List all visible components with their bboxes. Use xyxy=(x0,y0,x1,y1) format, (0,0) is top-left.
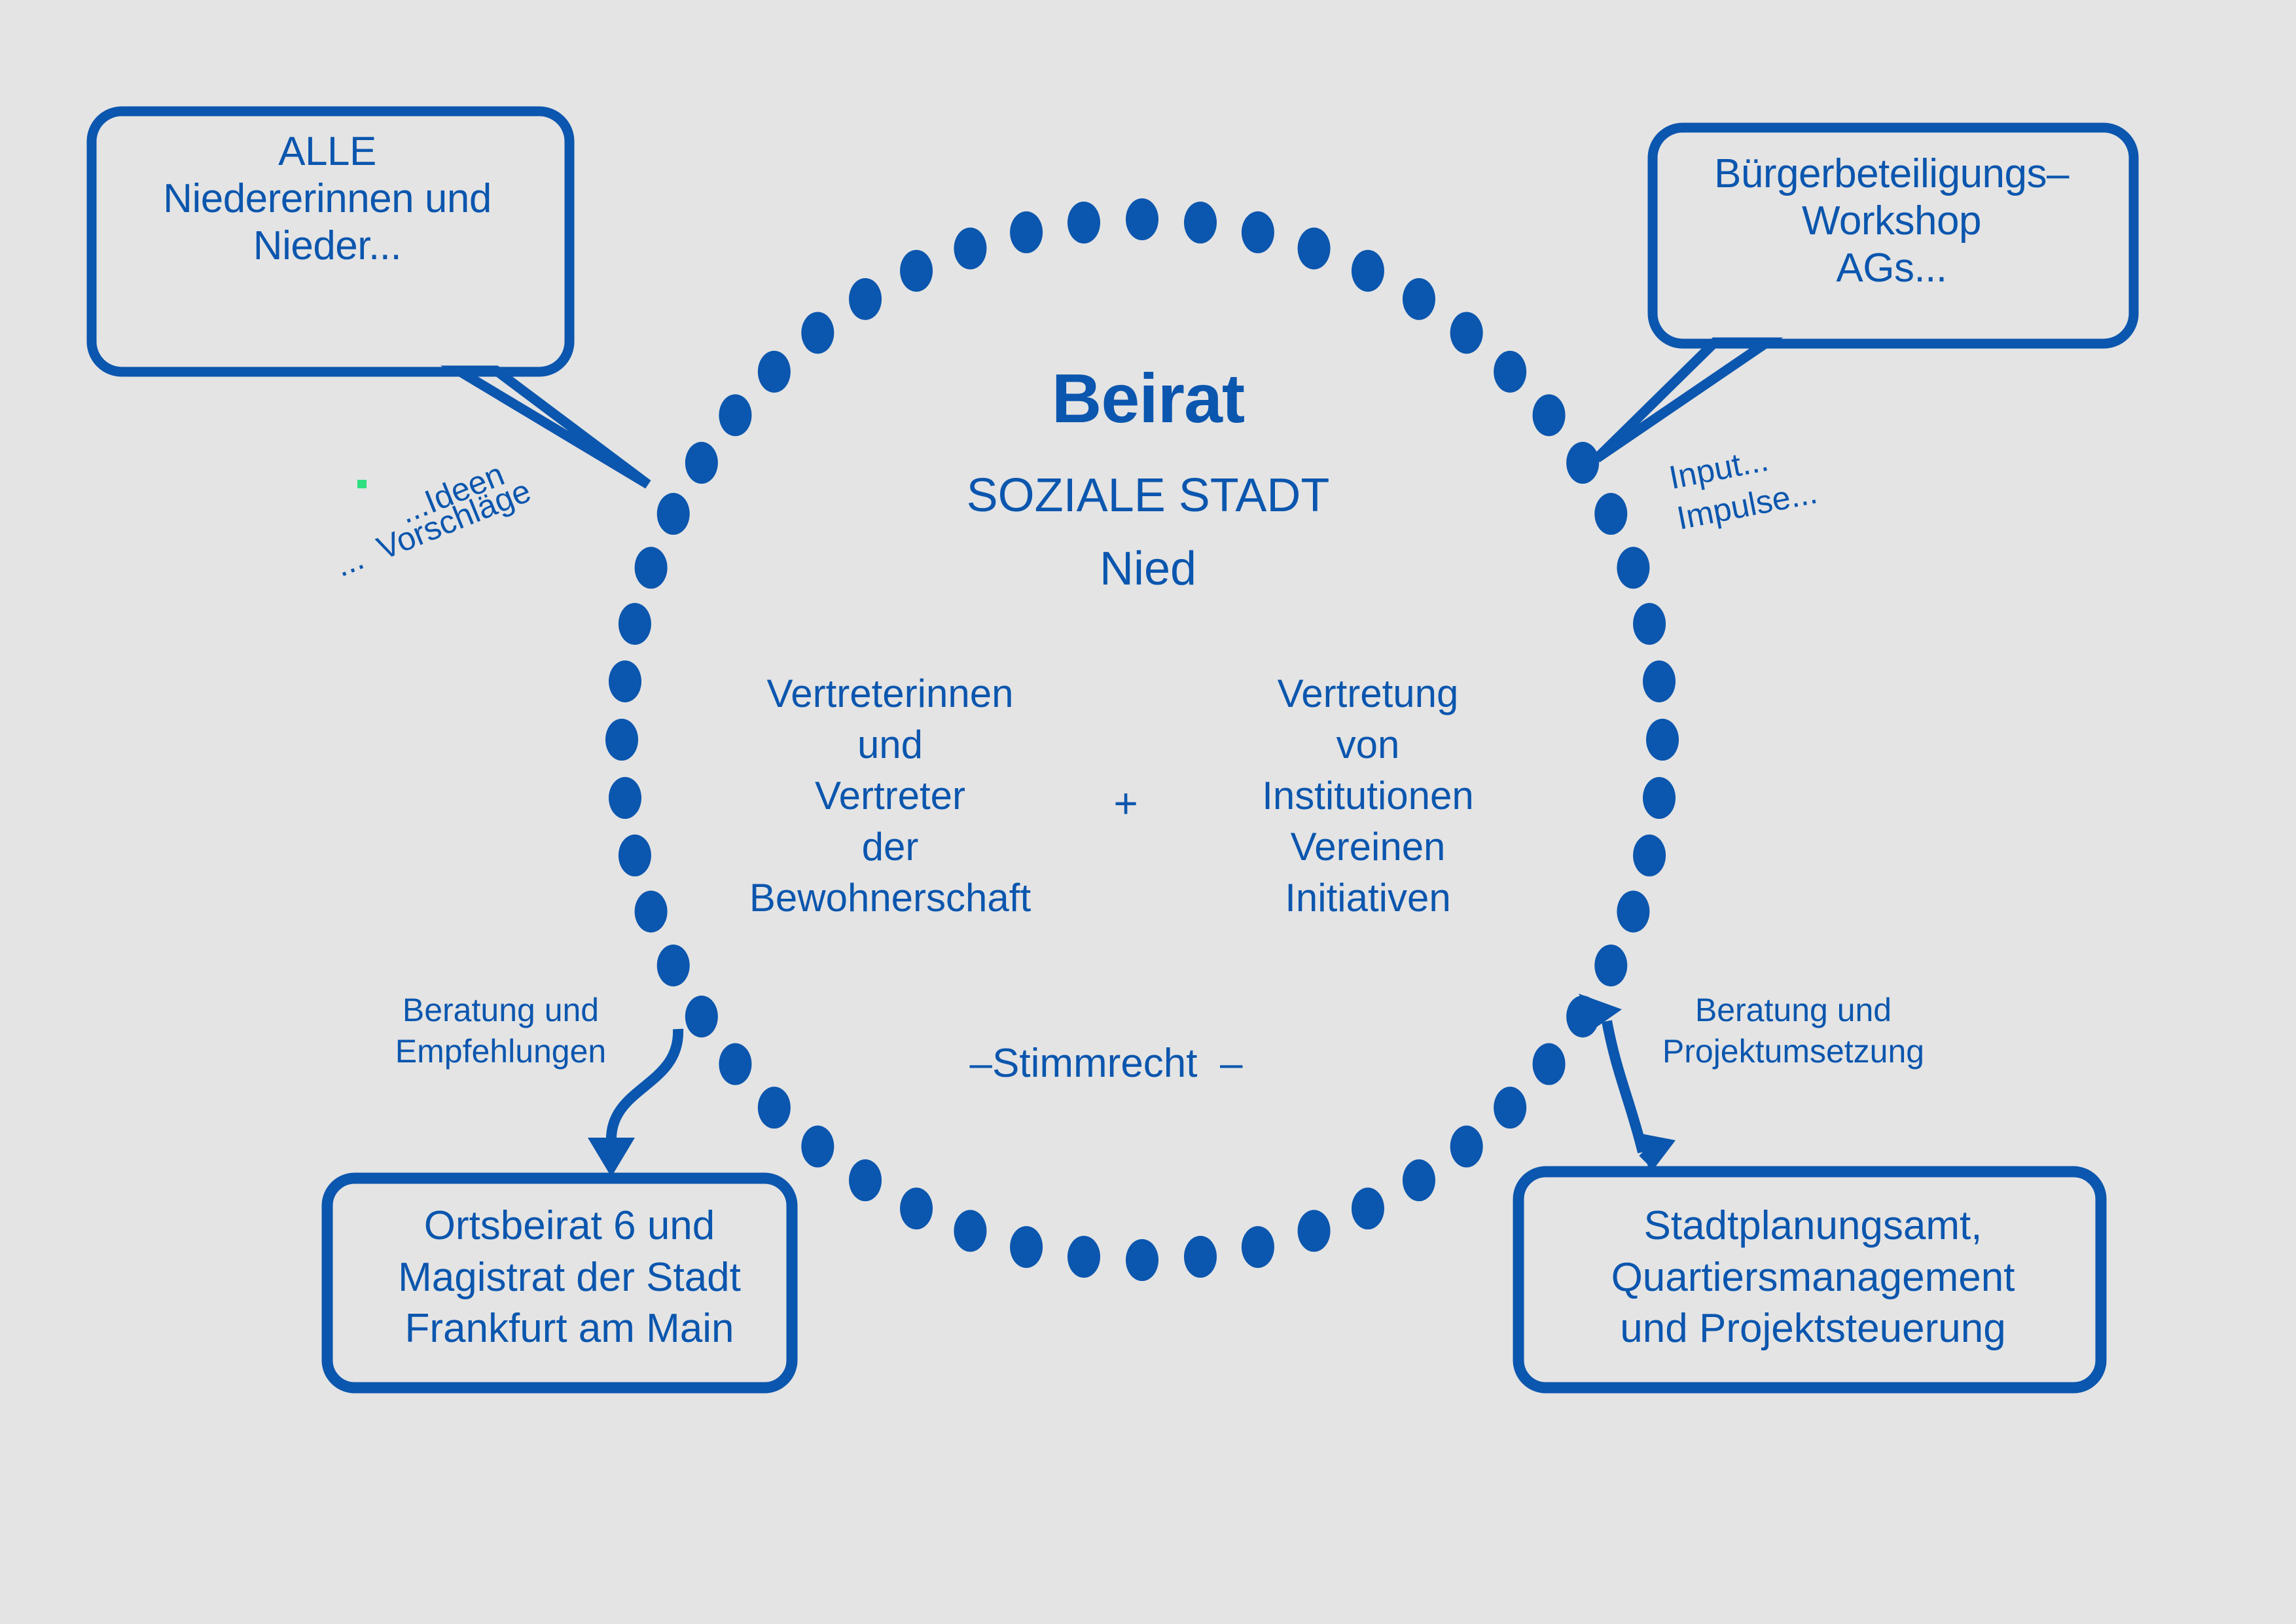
ring-dot xyxy=(1126,1239,1158,1281)
bubble-top-right-label: Bürgerbeteiligungs– Workshop AGs... xyxy=(1656,151,2127,292)
ring-dot xyxy=(1403,278,1435,320)
ring-dot xyxy=(900,1187,933,1229)
ring-dot xyxy=(609,660,641,702)
ring-dot xyxy=(1633,603,1666,645)
ring-dot xyxy=(1617,547,1649,588)
ring-dot xyxy=(1566,442,1599,484)
annotation-beratung-empfehlungen: Beratung und Empfehlungen xyxy=(373,990,628,1072)
ring-dot xyxy=(1494,1087,1526,1128)
ring-dot xyxy=(849,278,882,320)
ring-dot xyxy=(1184,202,1217,244)
ring-dot xyxy=(1010,211,1043,253)
ring-dot xyxy=(900,250,933,292)
ring-dot xyxy=(954,228,986,270)
ring-dot xyxy=(801,312,834,353)
ring-dot xyxy=(1352,1187,1384,1229)
ring-dot xyxy=(1450,1126,1483,1168)
stimmrecht-note: –Stimmrecht – xyxy=(870,1040,1342,1087)
ring-dot xyxy=(635,547,668,588)
ring-dot xyxy=(849,1159,882,1201)
ring-dot xyxy=(719,394,751,436)
center-right-column: Vertretung von Institutionen Vereinen In… xyxy=(1185,668,1551,924)
ring-dot xyxy=(1533,394,1566,436)
ring-dot xyxy=(609,777,641,819)
ring-dot xyxy=(1298,1210,1331,1252)
diagram-canvas: ALLE Niedererinnen und Nieder... Bürgerb… xyxy=(0,0,2296,1624)
center-left-column: Vertreterinnen und Vertreter der Bewohne… xyxy=(668,668,1113,924)
ring-dot xyxy=(1242,1226,1274,1268)
ring-dot xyxy=(657,493,690,535)
ring-dot xyxy=(685,996,718,1038)
ring-dot xyxy=(1494,351,1526,393)
center-subtitle-line-2: Nied xyxy=(821,542,1475,597)
box-bottom-left-label: Ortsbeirat 6 und Magistrat der Stadt Fra… xyxy=(327,1200,812,1355)
page-title: Beirat xyxy=(821,359,1475,439)
speech-tail-icon-right xyxy=(1597,342,1767,458)
ring-dot xyxy=(657,945,690,986)
ring-dot xyxy=(1184,1236,1217,1278)
green-speck-artifact xyxy=(357,480,367,488)
ring-dot xyxy=(1010,1226,1043,1268)
ring-dot xyxy=(1594,945,1627,986)
ring-dot xyxy=(1403,1159,1435,1201)
ring-dot xyxy=(1450,312,1483,353)
ring-dot xyxy=(954,1210,986,1252)
ring-dot xyxy=(1646,719,1679,761)
ring-dot xyxy=(1298,228,1331,270)
ring-dot xyxy=(685,442,718,484)
ring-dot xyxy=(1633,835,1666,876)
ring-dot xyxy=(1242,211,1274,253)
ring-dot xyxy=(719,1043,751,1085)
ring-dot xyxy=(1594,493,1627,535)
ring-dot xyxy=(1352,250,1384,292)
ring-dot xyxy=(1067,1236,1100,1278)
ring-dot xyxy=(758,351,791,393)
bubble-top-left-label: ALLE Niedererinnen und Nieder... xyxy=(92,128,563,270)
ring-dot xyxy=(605,719,638,761)
annotation-beratung-projektumsetzung: Beratung und Projektumsetzung xyxy=(1640,990,1947,1072)
ring-dot xyxy=(1617,891,1649,933)
ring-dot xyxy=(1126,198,1158,240)
ring-dot xyxy=(1533,1043,1566,1085)
ring-dot xyxy=(619,603,651,645)
ring-dot xyxy=(619,835,651,876)
ring-dot xyxy=(1067,202,1100,244)
ring-dot xyxy=(635,891,668,933)
ring-dot xyxy=(758,1087,791,1128)
plus-sign: + xyxy=(1073,779,1178,827)
ring-dot xyxy=(801,1126,834,1168)
box-bottom-right-label: Stadtplanungsamt, Quartiersmanagement un… xyxy=(1525,1200,2101,1355)
ring-dot xyxy=(1643,660,1676,702)
ring-dot xyxy=(1643,777,1676,819)
center-subtitle-line-1: SOZIALE STADT xyxy=(821,469,1475,524)
